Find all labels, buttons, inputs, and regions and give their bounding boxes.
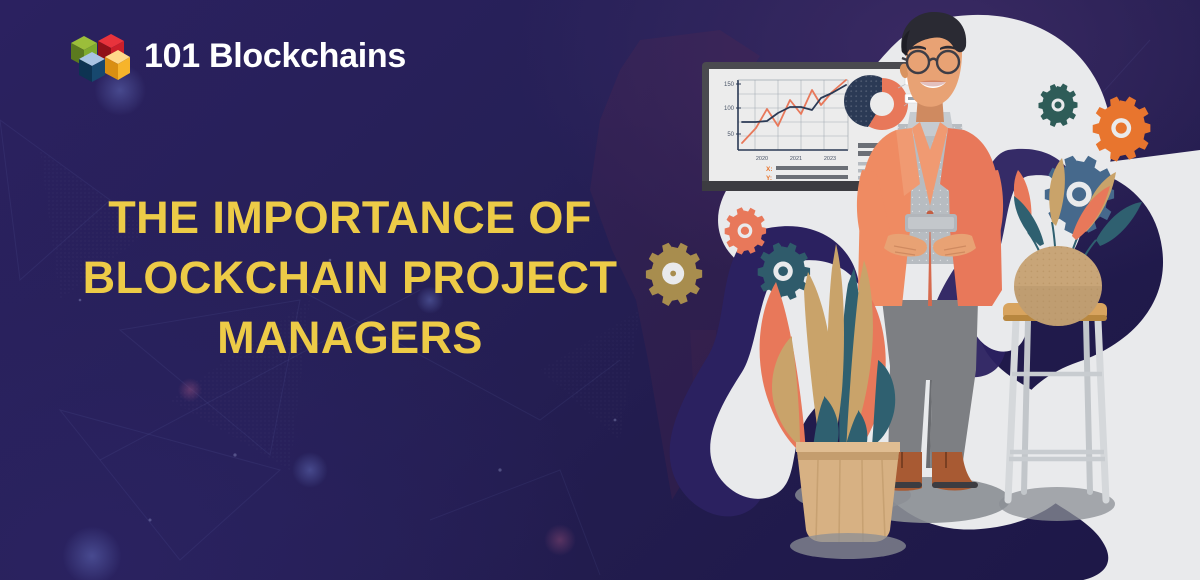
legend-label-x: X:: [766, 166, 773, 173]
page-title: The Importance of Blockchain Project Man…: [30, 188, 670, 368]
x-tick-2020: 2020: [756, 156, 768, 162]
logo-text: 101 Blockchains: [144, 37, 406, 76]
x-tick-2023: 2023: [824, 156, 836, 162]
x-tick-2021: 2021: [790, 156, 802, 162]
illustration: 150 100 50 2020 2021 2023: [610, 0, 1200, 580]
logo[interactable]: 101 Blockchains: [68, 28, 406, 84]
y-tick-50: 50: [727, 132, 734, 138]
y-tick-100: 100: [724, 106, 735, 112]
y-tick-150: 150: [724, 82, 735, 88]
legend-label-y: Y:: [766, 175, 772, 182]
four-cubes-logo-icon: [68, 28, 130, 84]
banner-root: 101 Blockchains The Importance of Blockc…: [0, 0, 1200, 580]
gear-tan-icon: [646, 243, 702, 306]
